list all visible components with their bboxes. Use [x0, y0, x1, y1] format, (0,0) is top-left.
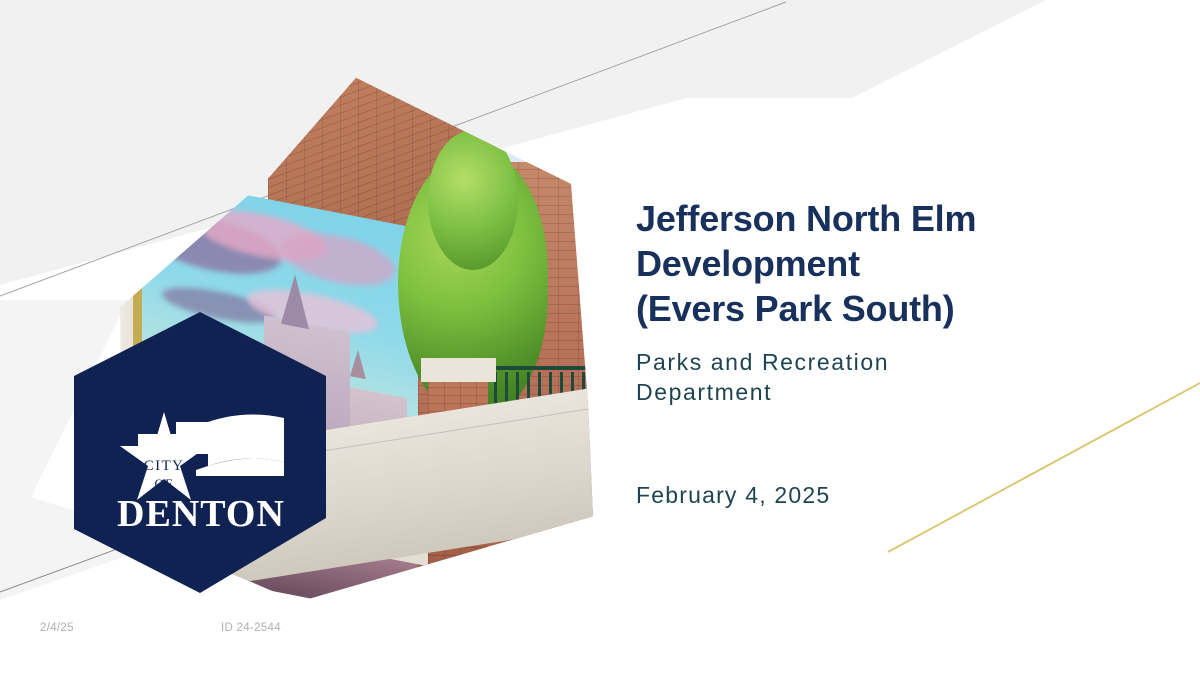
slide-footer: 2/4/25 ID 24-2544 [0, 622, 1200, 646]
subtitle-line-1: Parks and Recreation [636, 347, 1106, 377]
footer-id: ID 24-2544 [221, 622, 281, 634]
title-line-3: (Evers Park South) [636, 286, 1106, 331]
slide-title: Jefferson North Elm Development (Evers P… [636, 196, 1106, 331]
footer-date: 2/4/25 [40, 622, 74, 634]
photo-fence-rail [483, 366, 593, 370]
presentation-slide: CITY OF DENTON Jefferson North Elm Devel… [0, 0, 1200, 675]
title-line-2: Development [636, 241, 1106, 286]
city-of-denton-logo: CITY OF DENTON [74, 312, 326, 593]
logo-of-text: OF [154, 476, 173, 491]
subtitle-line-2: Department [636, 377, 1106, 407]
slide-date: February 4, 2025 [636, 482, 830, 509]
gold-accent-diagonal [888, 383, 1200, 552]
photo-tree-top [428, 130, 518, 269]
logo-denton-wordmark: DENTON [117, 493, 285, 530]
logo-city-text: CITY [144, 458, 185, 474]
mural-spire [350, 348, 366, 379]
title-block: Jefferson North Elm Development (Evers P… [636, 196, 1106, 407]
title-line-1: Jefferson North Elm [636, 196, 1106, 241]
slide-subtitle: Parks and Recreation Department [636, 347, 1106, 407]
denton-logo-mark: CITY OF DENTON [104, 410, 299, 530]
photo-pier-cap [421, 358, 496, 382]
